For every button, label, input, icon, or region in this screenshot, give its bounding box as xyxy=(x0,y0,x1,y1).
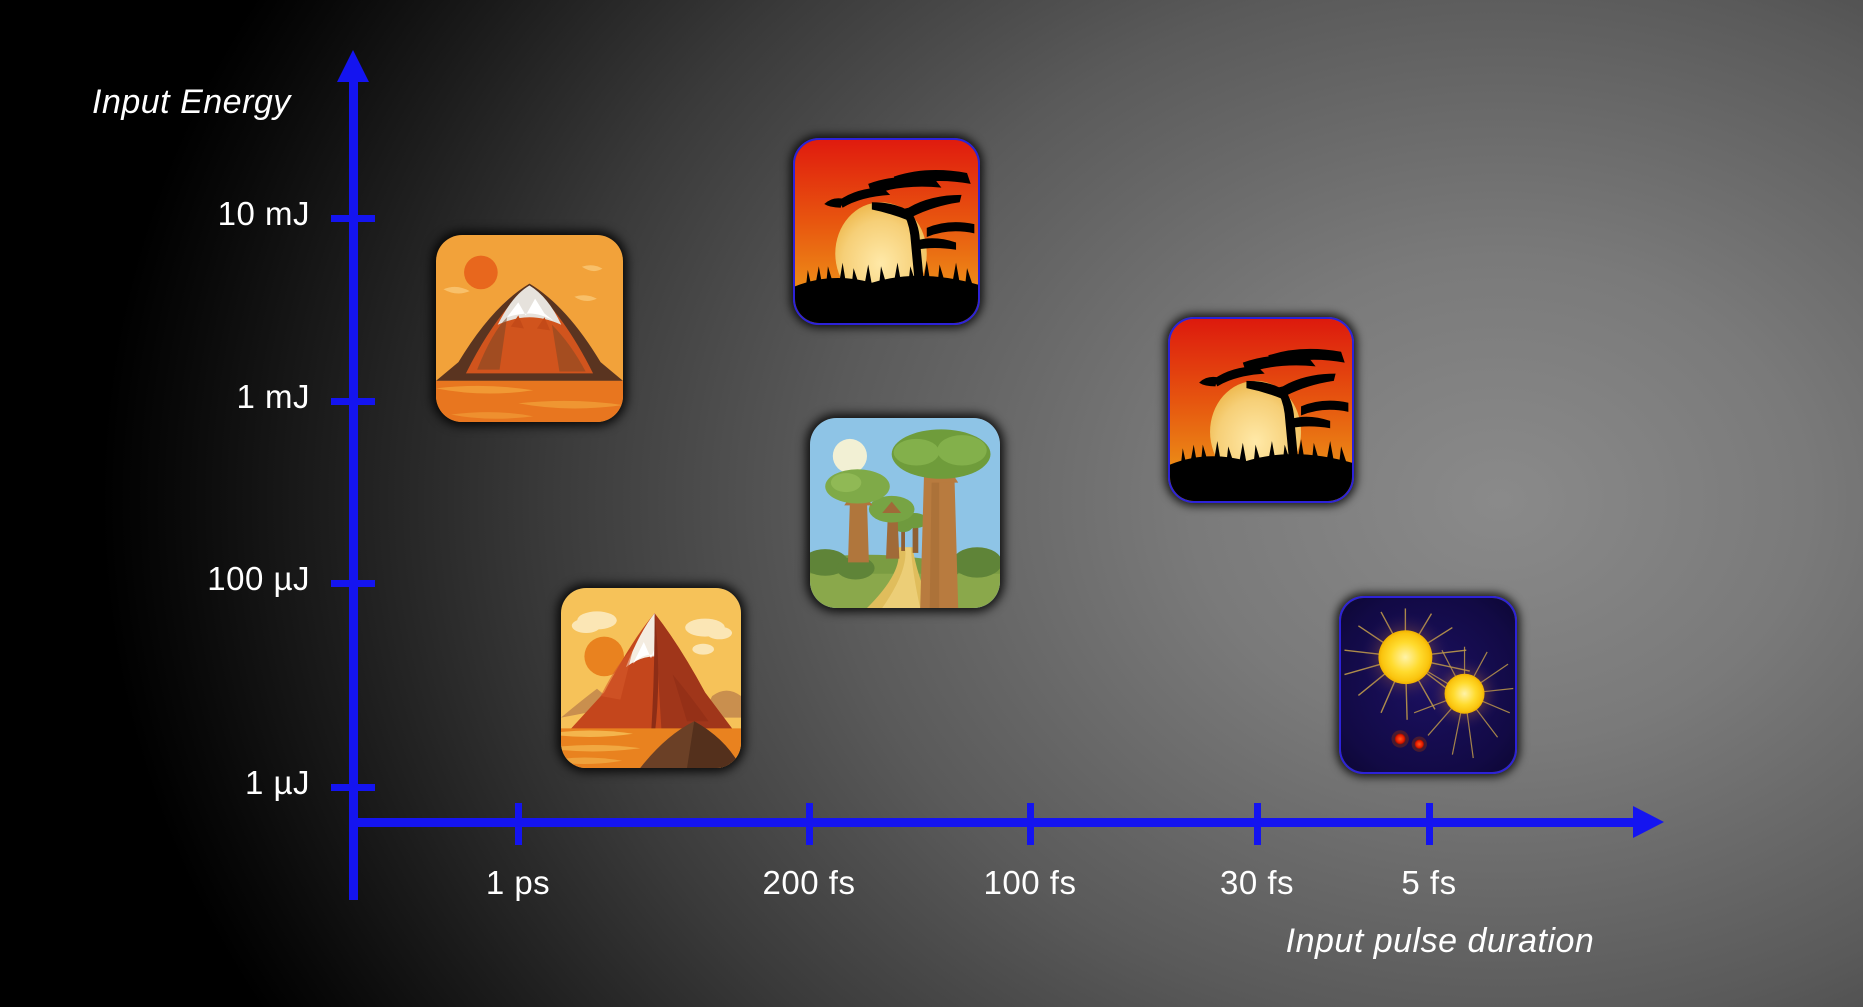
acacia-sunset-small-thumbnail[interactable] xyxy=(1168,317,1354,503)
red-mountain-icon xyxy=(561,588,741,768)
twin-suns-burst-icon xyxy=(1341,598,1515,772)
y-axis-tick-label: 100 µJ xyxy=(50,560,310,598)
y-axis-tick-label: 10 mJ xyxy=(50,195,310,233)
x-axis-tick-label: 100 fs xyxy=(920,864,1140,902)
x-axis-arrowhead xyxy=(1633,806,1664,838)
volcano-sunset-icon xyxy=(436,235,623,422)
x-axis-tick-label: 1 ps xyxy=(408,864,628,902)
y-axis-tick-label: 1 mJ xyxy=(50,378,310,416)
x-axis-line xyxy=(353,818,1639,827)
x-axis-title: Input pulse duration xyxy=(1286,922,1595,961)
x-axis-tick xyxy=(1254,803,1261,845)
y-axis-tick-label: 1 µJ xyxy=(50,764,310,802)
baobab-avenue-icon xyxy=(810,418,1000,608)
x-axis-tick-label: 5 fs xyxy=(1319,864,1539,902)
y-axis-tick xyxy=(331,398,375,405)
baobab-avenue-thumbnail[interactable] xyxy=(810,418,1000,608)
chart-canvas: Input Energy Input pulse duration 10 mJ … xyxy=(0,0,1863,1007)
x-axis-tick xyxy=(515,803,522,845)
acacia-sunset-icon xyxy=(1170,319,1352,501)
x-axis-tick xyxy=(806,803,813,845)
y-axis-title: Input Energy xyxy=(92,83,291,122)
red-mountain-thumbnail[interactable] xyxy=(561,588,741,768)
x-axis-tick-label: 200 fs xyxy=(699,864,919,902)
x-axis-tick xyxy=(1027,803,1034,845)
y-axis-tick xyxy=(331,215,375,222)
y-axis-tick xyxy=(331,784,375,791)
acacia-sunset-icon xyxy=(795,140,978,323)
twin-suns-thumbnail[interactable] xyxy=(1339,596,1517,774)
y-axis-arrowhead xyxy=(337,50,369,82)
mount-fuji-sunset-thumbnail[interactable] xyxy=(436,235,623,422)
x-axis-tick xyxy=(1426,803,1433,845)
acacia-sunset-large-thumbnail[interactable] xyxy=(793,138,980,325)
y-axis-tick xyxy=(331,580,375,587)
y-axis-line xyxy=(349,78,358,900)
